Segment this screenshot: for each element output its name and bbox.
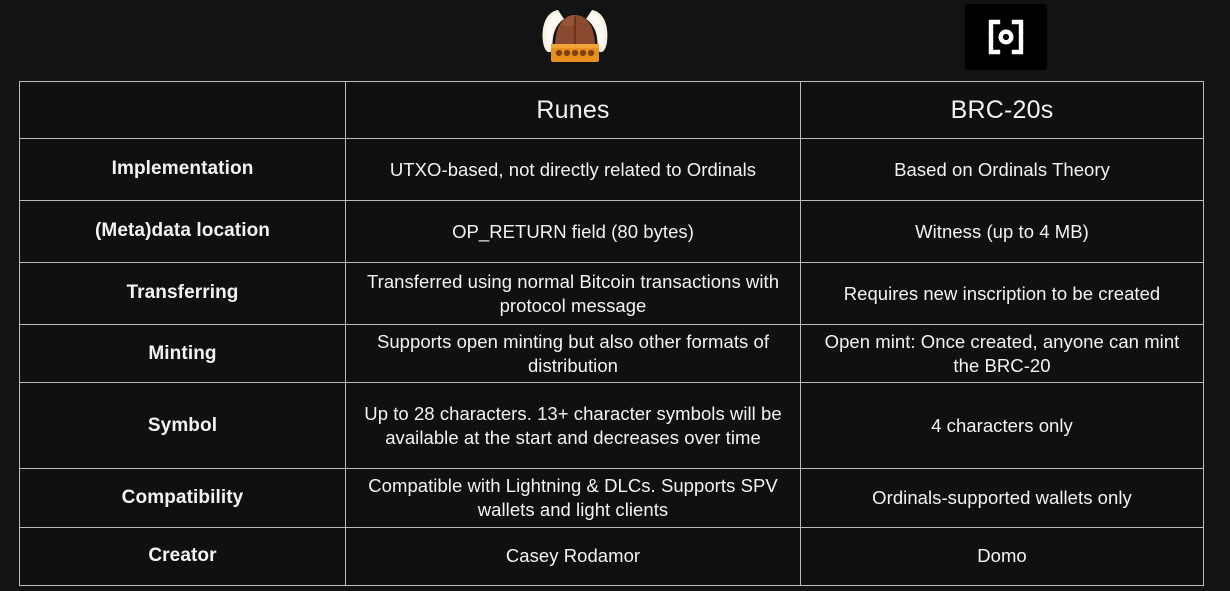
table-row: Minting Supports open minting but also o… <box>20 325 1204 383</box>
cell-brc20-minting: Open mint: Once created, anyone can mint… <box>801 325 1204 383</box>
brackets-circle-icon <box>984 15 1028 59</box>
row-label-minting: Minting <box>20 325 346 383</box>
logo-strip <box>0 0 1230 81</box>
table-row: Symbol Up to 28 characters. 13+ characte… <box>20 383 1204 469</box>
row-label-metadata-location: (Meta)data location <box>20 201 346 263</box>
table-row: Transferring Transferred using normal Bi… <box>20 263 1204 325</box>
row-label-symbol: Symbol <box>20 383 346 469</box>
row-label-compatibility: Compatibility <box>20 469 346 527</box>
cell-runes-implementation: UTXO-based, not directly related to Ordi… <box>346 139 801 201</box>
table-row: Implementation UTXO-based, not directly … <box>20 139 1204 201</box>
runes-vs-brc20-comparison-table: Runes BRC-20s Implementation UTXO-based,… <box>19 81 1204 586</box>
cell-runes-transferring: Transferred using normal Bitcoin transac… <box>346 263 801 325</box>
cell-runes-creator: Casey Rodamor <box>346 527 801 585</box>
cell-brc20-implementation: Based on Ordinals Theory <box>801 139 1204 201</box>
cell-runes-metadata-location: OP_RETURN field (80 bytes) <box>346 201 801 263</box>
header-runes: Runes <box>346 82 801 139</box>
header-brc20s: BRC-20s <box>801 82 1204 139</box>
brc20-logo <box>965 4 1047 70</box>
table-row: Creator Casey Rodamor Domo <box>20 527 1204 585</box>
table-row: Compatibility Compatible with Lightning … <box>20 469 1204 527</box>
table-row: (Meta)data location OP_RETURN field (80 … <box>20 201 1204 263</box>
cell-runes-symbol: Up to 28 characters. 13+ character symbo… <box>346 383 801 469</box>
row-label-implementation: Implementation <box>20 139 346 201</box>
row-label-transferring: Transferring <box>20 263 346 325</box>
cell-brc20-creator: Domo <box>801 527 1204 585</box>
table-header-row: Runes BRC-20s <box>20 82 1204 139</box>
cell-runes-compatibility: Compatible with Lightning & DLCs. Suppor… <box>346 469 801 527</box>
comparison-page: Runes BRC-20s Implementation UTXO-based,… <box>0 0 1230 591</box>
viking-helmet-icon <box>534 2 616 70</box>
cell-brc20-metadata-location: Witness (up to 4 MB) <box>801 201 1204 263</box>
row-label-creator: Creator <box>20 527 346 585</box>
cell-runes-minting: Supports open minting but also other for… <box>346 325 801 383</box>
cell-brc20-compatibility: Ordinals-supported wallets only <box>801 469 1204 527</box>
cell-brc20-symbol: 4 characters only <box>801 383 1204 469</box>
cell-brc20-transferring: Requires new inscription to be created <box>801 263 1204 325</box>
header-blank <box>20 82 346 139</box>
